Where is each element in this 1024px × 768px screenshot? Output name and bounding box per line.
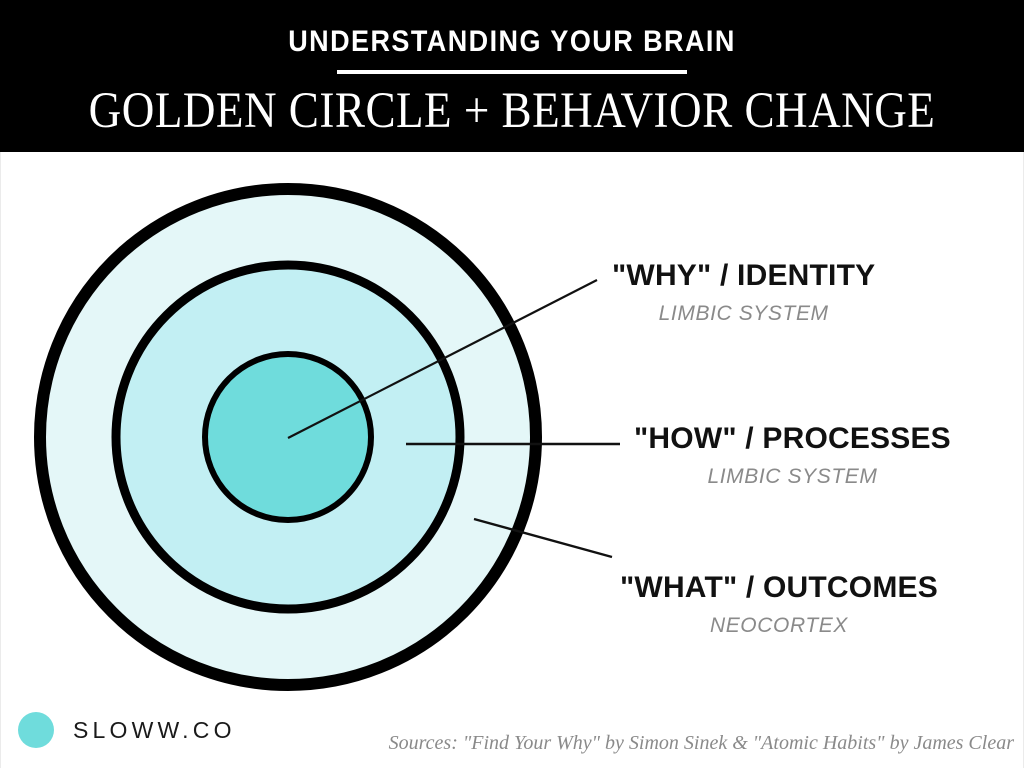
label-how-sublabel: LIMBIC SYSTEM — [634, 466, 951, 488]
label-what-sublabel: NEOCORTEX — [620, 615, 938, 637]
label-why-sublabel: LIMBIC SYSTEM — [612, 303, 875, 325]
sources-credit: Sources: "Find Your Why" by Simon Sinek … — [389, 732, 1014, 755]
label-how-title: "HOW" / PROCESSES — [634, 423, 951, 455]
footer: SLOWW.CO — [0, 690, 1024, 768]
label-why-title: "WHY" / IDENTITY — [612, 260, 875, 292]
infographic-slide: UNDERSTANDING YOUR BRAIN GOLDEN CIRCLE +… — [0, 0, 1024, 768]
label-why: "WHY" / IDENTITY LIMBIC SYSTEM — [612, 260, 875, 325]
brand-dot-icon — [18, 712, 54, 748]
brand-logo: SLOWW.CO — [18, 712, 236, 748]
label-what-title: "WHAT" / OUTCOMES — [620, 572, 938, 604]
label-what: "WHAT" / OUTCOMES NEOCORTEX — [620, 572, 938, 637]
brand-name: SLOWW.CO — [73, 717, 236, 744]
label-how: "HOW" / PROCESSES LIMBIC SYSTEM — [634, 423, 951, 488]
golden-circle-diagram — [0, 0, 1024, 768]
